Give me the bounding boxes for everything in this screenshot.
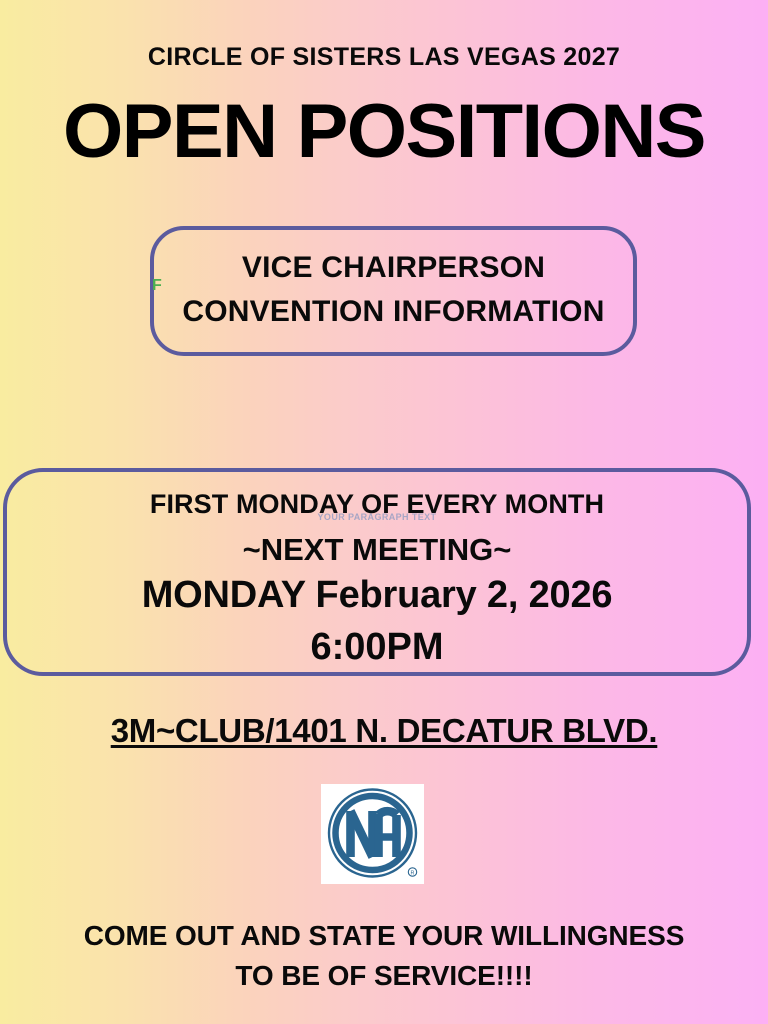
call-to-action: COME OUT AND STATE YOUR WILLINGNESS TO B… xyxy=(0,916,768,996)
position-title-vice-chairperson: VICE CHAIRPERSON xyxy=(154,252,633,284)
cta-line-2: TO BE OF SERVICE!!!! xyxy=(0,956,768,996)
na-logo: R xyxy=(321,784,424,884)
page-title: OPEN POSITIONS xyxy=(0,94,768,170)
registered-mark-icon: R xyxy=(408,868,416,877)
cta-line-1: COME OUT AND STATE YOUR WILLINGNESS xyxy=(0,916,768,956)
next-meeting-date: MONDAY February 2, 2026 xyxy=(7,576,747,616)
placeholder-watermark: YOUR PARAGRAPH TEXT xyxy=(7,513,747,522)
na-logo-graphic: R xyxy=(321,784,424,884)
open-positions-box: VICE CHAIRPERSON CONVENTION INFORMATION xyxy=(150,226,637,356)
svg-text:R: R xyxy=(411,871,415,877)
position-title-convention-information: CONVENTION INFORMATION xyxy=(154,296,633,328)
flyer-kicker: CIRCLE OF SISTERS LAS VEGAS 2027 xyxy=(0,44,768,72)
venue-address-text: 3M~CLUB/1401 N. DECATUR BLVD. xyxy=(111,712,658,749)
next-meeting-time: 6:00PM xyxy=(7,628,747,668)
flyer-canvas: CIRCLE OF SISTERS LAS VEGAS 2027 OPEN PO… xyxy=(0,0,768,1024)
next-meeting-label: ~NEXT MEETING~ xyxy=(7,534,747,567)
venue-address: 3M~CLUB/1401 N. DECATUR BLVD. xyxy=(0,713,768,749)
meeting-details-box: FIRST MONDAY OF EVERY MONTH YOUR PARAGRA… xyxy=(3,468,751,676)
stray-glyph-artifact: F xyxy=(152,278,162,294)
